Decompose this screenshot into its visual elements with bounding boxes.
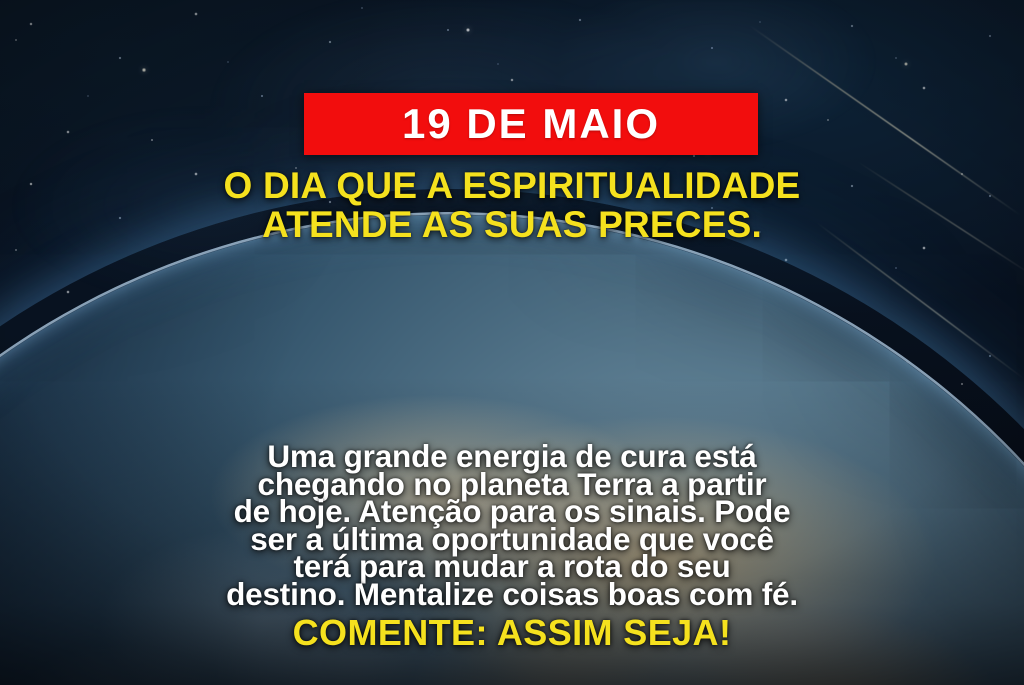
cta-label: COMENTE: ASSIM SEJA! [293, 612, 732, 653]
body-line-6: destino. Mentalize coisas boas com fé. [52, 581, 972, 609]
date-banner: 19 DE MAIO [304, 93, 758, 155]
poster-content: 19 DE MAIO O DIA QUE A ESPIRITUALIDADE A… [0, 0, 1024, 685]
call-to-action: COMENTE: ASSIM SEJA! [0, 615, 1024, 651]
date-banner-label: 19 DE MAIO [402, 103, 660, 145]
headline-line-1: O DIA QUE A ESPIRITUALIDADE [0, 166, 1024, 205]
poster-canvas: 19 DE MAIO O DIA QUE A ESPIRITUALIDADE A… [0, 0, 1024, 685]
headline: O DIA QUE A ESPIRITUALIDADE ATENDE AS SU… [0, 166, 1024, 244]
body-paragraph: Uma grande energia de cura está chegando… [52, 443, 972, 608]
headline-line-2: ATENDE AS SUAS PRECES. [0, 205, 1024, 244]
